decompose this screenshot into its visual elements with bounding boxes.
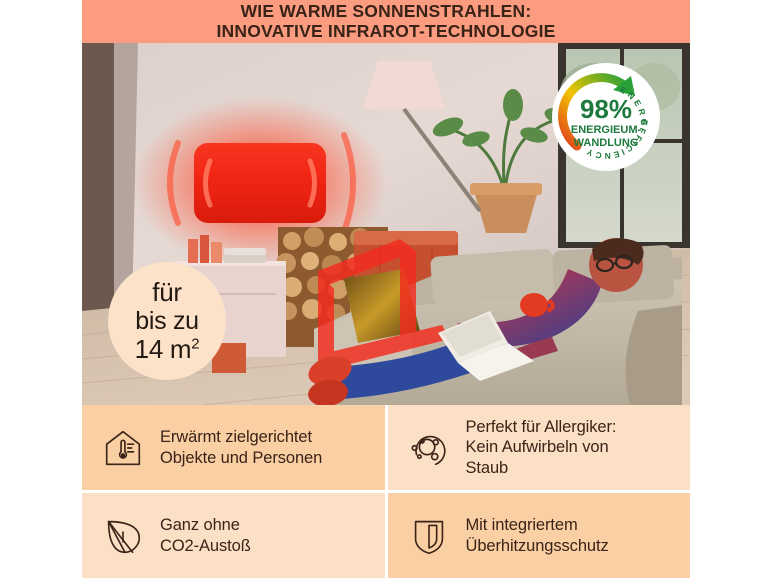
header-title-line-1: WIE WARME SONNENSTRAHLEN:	[241, 1, 532, 21]
energy-efficiency-seal: ENERGY EFFICIENCY 98% ENERGIEUM- WANDLUN…	[551, 62, 661, 172]
feature-text-allergy-friendly: Perfekt für Allergiker: Kein Aufwirbeln …	[466, 417, 617, 477]
coverage-value: 14 m	[135, 334, 192, 364]
coverage-line-3: 14 m2	[135, 335, 200, 364]
feature-line-2: Objekte und Personen	[160, 448, 322, 468]
feature-item-targeted-heating: Erwärmt zielgerichtet Objekte und Person…	[82, 405, 385, 490]
energy-seal-label-line-1: ENERGIEUM-	[571, 124, 642, 136]
feature-text-targeted-heating: Erwärmt zielgerichtet Objekte und Person…	[160, 427, 322, 467]
coverage-area-badge: für bis zu 14 m2	[108, 262, 226, 380]
shield-icon	[406, 513, 452, 559]
feature-line-1: Perfekt für Allergiker:	[466, 417, 617, 437]
dust-particles-icon	[406, 425, 452, 471]
energy-seal-graphic: ENERGY EFFICIENCY 98% ENERGIEUM- WANDLUN…	[551, 62, 661, 172]
feature-grid: Erwärmt zielgerichtet Objekte und Person…	[82, 405, 690, 578]
feature-text-no-co2: Ganz ohne CO2-Austoß	[160, 515, 251, 555]
feature-line-2: CO2-Austoß	[160, 536, 251, 556]
feature-text-overheat-protection: Mit integriertem Überhitzungsschutz	[466, 515, 609, 555]
infographic-root: WIE WARME SONNENSTRAHLEN: INNOVATIVE INF…	[0, 0, 770, 578]
coverage-unit-exponent: 2	[191, 335, 199, 352]
feature-item-overheat-protection: Mit integriertem Überhitzungsschutz	[388, 493, 691, 578]
energy-seal-percent: 98%	[580, 94, 632, 124]
feature-item-no-co2: Ganz ohne CO2-Austoß	[82, 493, 385, 578]
coverage-line-2: bis zu	[135, 307, 199, 335]
feature-line-2: Überhitzungsschutz	[466, 536, 609, 556]
feature-item-allergy-friendly: Perfekt für Allergiker: Kein Aufwirbeln …	[388, 405, 691, 490]
feature-line-3: Staub	[466, 458, 617, 478]
coverage-line-1: für	[152, 278, 181, 307]
feature-line-1: Ganz ohne	[160, 515, 251, 535]
feature-line-2: Kein Aufwirbeln von	[466, 437, 617, 457]
energy-seal-label-line-2: WANDLUNG	[574, 137, 639, 149]
header-title-line-2: INNOVATIVE INFRAROT-TECHNOLOGIE	[216, 21, 555, 41]
feature-line-1: Mit integriertem	[466, 515, 609, 535]
leaf-icon	[100, 513, 146, 559]
house-thermometer-icon	[100, 425, 146, 471]
header-banner: WIE WARME SONNENSTRAHLEN: INNOVATIVE INF…	[82, 0, 690, 43]
feature-line-1: Erwärmt zielgerichtet	[160, 427, 322, 447]
